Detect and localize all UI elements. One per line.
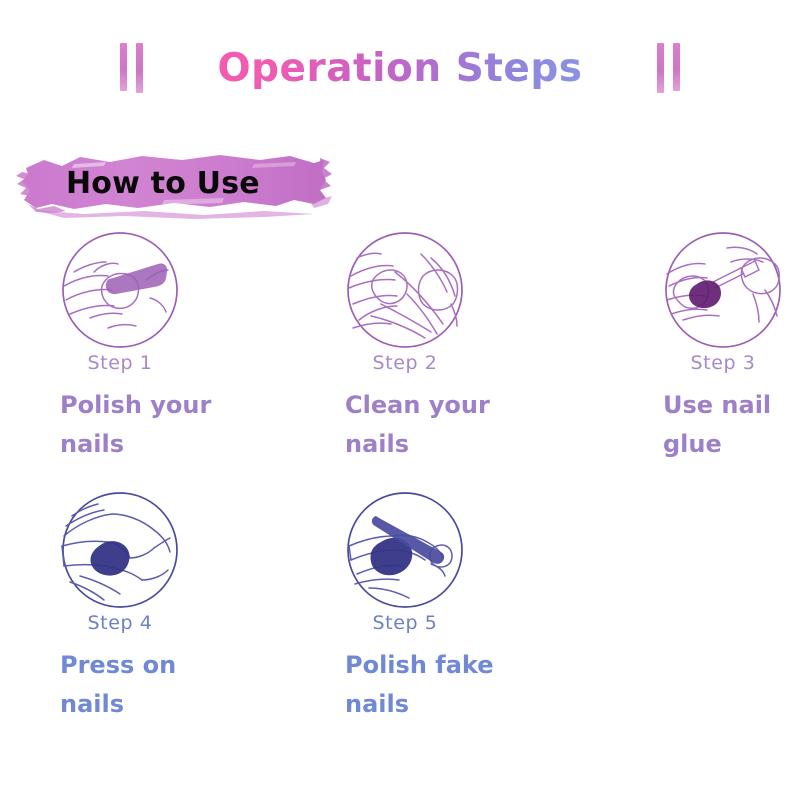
step-card-5: Step 5 Polish fake nails [335, 488, 585, 724]
step-4-caption: Press on nails [60, 646, 220, 724]
how-to-use-banner: How to Use [14, 146, 334, 226]
step-3-caption: Use nail glue [663, 386, 800, 464]
how-to-use-label: How to Use [66, 166, 260, 201]
title-right-bars [657, 43, 680, 93]
operation-steps-infographic: Operation Steps [0, 0, 800, 800]
step-1-caption: Polish your nails [60, 386, 220, 464]
step-card-4: Step 4 Press on nails [50, 488, 300, 724]
title-row: Operation Steps [0, 38, 800, 98]
title-bar-icon [657, 43, 664, 93]
title-bar-icon [673, 43, 680, 91]
step-3-illustration [653, 228, 793, 358]
title-left-bars [120, 43, 143, 93]
press-on-nail-icon [50, 488, 190, 618]
step-card-2: Step 2 Clean your nails [335, 228, 585, 464]
step-4-illustration [50, 488, 190, 618]
title-bar-icon [120, 43, 127, 91]
step-card-1: Step 1 Polish your nails [50, 228, 300, 464]
polish-fake-nail-icon [335, 488, 475, 618]
step-5-illustration [335, 488, 475, 618]
step-2-illustration [335, 228, 475, 358]
page-title: Operation Steps [217, 46, 582, 91]
nail-file-on-finger-icon [50, 228, 190, 358]
step-2-caption: Clean your nails [345, 386, 505, 464]
step-card-3: Step 3 Use nail glue [653, 228, 800, 464]
title-bar-icon [136, 43, 143, 93]
cleaning-nails-icon [335, 228, 475, 358]
step-1-illustration [50, 228, 190, 358]
nail-glue-brush-icon [653, 228, 793, 358]
step-5-caption: Polish fake nails [345, 646, 505, 724]
